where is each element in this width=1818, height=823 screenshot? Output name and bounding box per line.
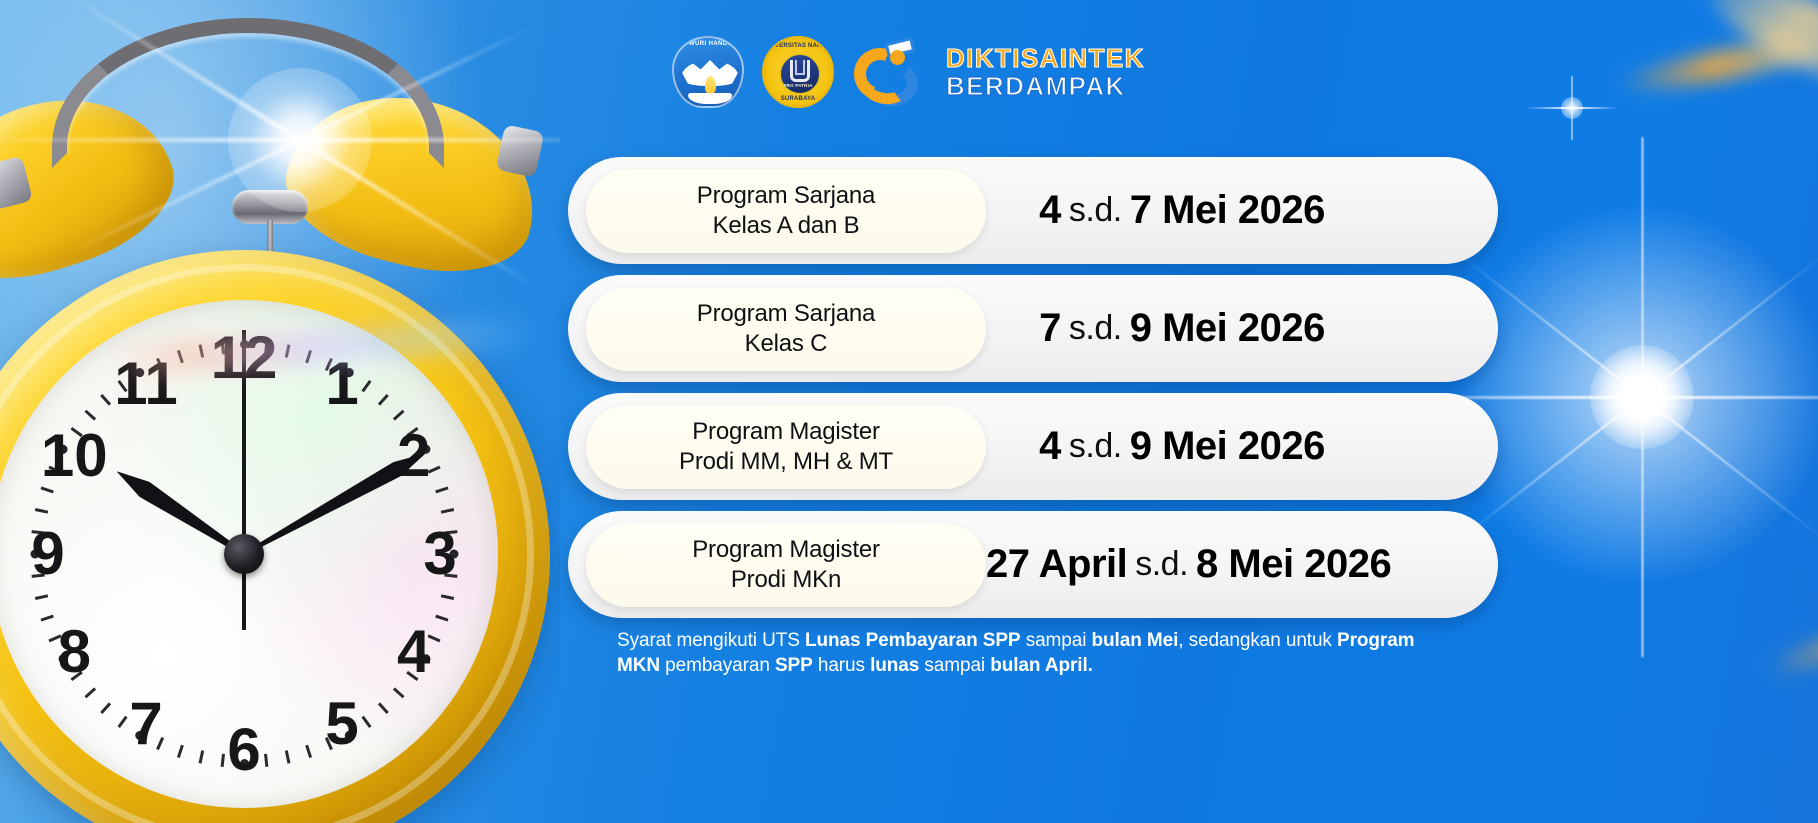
clock-numeral: 5 [306, 688, 378, 760]
clock-numeral: 3 [404, 518, 476, 590]
banner-root: 123456789101112 TUT WURI HANDAYANI UNIVE… [0, 0, 1818, 823]
clock-hub [224, 534, 264, 574]
clock-numeral: 11 [110, 348, 182, 420]
footer-text-4: pembayaran [660, 655, 775, 676]
footer-bold-6: bulan April. [990, 655, 1093, 676]
footer-text-5: harus [813, 655, 870, 676]
orange-streak-icon [1611, 25, 1818, 100]
footer-bold-1: Lunas Pembayaran SPP [805, 630, 1021, 651]
date-start: 4 [1039, 424, 1061, 469]
footer-bold-4: SPP [775, 655, 813, 676]
clock-nut-icon [496, 124, 545, 177]
program-pill: Program Magister Prodi MKn [586, 523, 986, 607]
narotama-monogram-inner-icon [795, 60, 805, 75]
footer-text-2: sampai [1021, 630, 1092, 651]
program-pill: Program Sarjana Kelas C [586, 287, 986, 371]
program-pill: Program Magister Prodi MM, MH & MT [586, 405, 986, 489]
clock-face: 123456789101112 [0, 300, 498, 808]
clock-numeral: 7 [110, 688, 182, 760]
date-end: 9 Mei 2026 [1130, 306, 1325, 351]
date-range: 4 s.d. 7 Mei 2026 [986, 188, 1498, 233]
footer-note: Syarat mengikuti UTS Lunas Pembayaran SP… [617, 628, 1417, 679]
schedule-row: Program Sarjana Kelas A dan B 4 s.d. 7 M… [568, 157, 1498, 264]
date-separator: s.d. [1069, 427, 1122, 466]
schedule-list: Program Sarjana Kelas A dan B 4 s.d. 7 M… [568, 157, 1498, 629]
clock-hand-sec [242, 330, 246, 630]
clock-numeral: 9 [12, 518, 84, 590]
schedule-row: Program Magister Prodi MM, MH & MT 4 s.d… [568, 393, 1498, 500]
program-line-2: Prodi MKn [731, 565, 841, 594]
date-start: 27 April [986, 542, 1127, 587]
orange-streak-icon [1760, 620, 1818, 684]
narotama-ring-top-text: UNIVERSITAS NAROTAMA [764, 43, 832, 49]
clock-striker-icon [232, 190, 308, 224]
diktisaintek-line1: DIKTISAINTEK [946, 45, 1145, 71]
schedule-row: Program Magister Prodi MKn 27 April s.d.… [568, 511, 1498, 618]
tut-wuri-flame-icon [705, 76, 716, 94]
program-line-2: Kelas C [745, 329, 828, 358]
program-line-2: Prodi MM, MH & MT [679, 447, 893, 476]
narotama-ring-bottom-text: SURABAYA [764, 96, 832, 102]
program-line-2: Kelas A dan B [713, 211, 860, 240]
diktisaintek-mark-icon [852, 36, 924, 108]
tut-wuri-book-icon [688, 93, 732, 104]
date-end: 8 Mei 2026 [1196, 542, 1391, 587]
universitas-narotama-logo-icon: UNIVERSITAS NAROTAMA PRO PATRIA SURABAYA [762, 36, 834, 108]
clock-numeral: 4 [378, 616, 450, 688]
footer-text-3: , sedangkan untuk [1178, 630, 1337, 651]
program-line-1: Program Sarjana [697, 299, 875, 328]
program-line-1: Program Sarjana [697, 181, 875, 210]
clock-numeral: 10 [38, 420, 110, 492]
date-separator: s.d. [1069, 309, 1122, 348]
date-start: 4 [1039, 188, 1061, 233]
clock-numeral: 8 [38, 616, 110, 688]
date-end: 7 Mei 2026 [1130, 188, 1325, 233]
footer-text-6: sampai [919, 655, 990, 676]
date-start: 7 [1039, 306, 1061, 351]
clock-numeral: 6 [208, 714, 280, 786]
diktisaintek-line2: BERDAMPAK [946, 73, 1145, 99]
date-range: 7 s.d. 9 Mei 2026 [986, 306, 1498, 351]
footer-text-1: Syarat mengikuti UTS [617, 630, 805, 651]
clock-numeral: 1 [306, 348, 378, 420]
footer-bold-5: lunas [870, 655, 919, 676]
clock-handle-icon [52, 18, 444, 168]
date-end: 9 Mei 2026 [1130, 424, 1325, 469]
date-range: 27 April s.d. 8 Mei 2026 [986, 542, 1511, 587]
date-separator: s.d. [1069, 191, 1122, 230]
narotama-motto-text: PRO PATRIA [764, 83, 832, 88]
alarm-clock-illustration: 123456789101112 [0, 0, 560, 823]
diktisaintek-wordmark: DIKTISAINTEK BERDAMPAK [946, 45, 1145, 99]
program-line-1: Program Magister [692, 535, 880, 564]
tut-wuri-arc-text: TUT WURI HANDAYANI [674, 41, 742, 47]
logo-row: TUT WURI HANDAYANI UNIVERSITAS NAROTAMA … [672, 36, 1145, 108]
footer-bold-2: bulan Mei [1092, 630, 1179, 651]
date-range: 4 s.d. 9 Mei 2026 [986, 424, 1498, 469]
schedule-row: Program Sarjana Kelas C 7 s.d. 9 Mei 202… [568, 275, 1498, 382]
tut-wuri-handayani-logo-icon: TUT WURI HANDAYANI [672, 36, 744, 108]
orange-streak-icon [1696, 0, 1818, 101]
program-line-1: Program Magister [692, 417, 880, 446]
clock-body: 123456789101112 [0, 250, 550, 823]
date-separator: s.d. [1135, 545, 1188, 584]
program-pill: Program Sarjana Kelas A dan B [586, 169, 986, 253]
